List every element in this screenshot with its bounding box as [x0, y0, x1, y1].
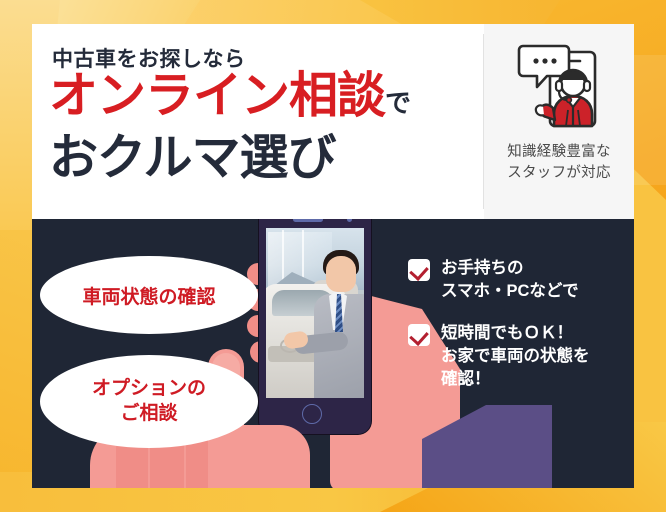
checkbox-checked-icon: [408, 324, 430, 346]
phone-home-button: [302, 404, 322, 424]
screen-salesperson-face: [326, 256, 356, 292]
headline-main-text: オンライン相談: [49, 69, 385, 123]
checklist-item: お手持ちの スマホ・PCなどで: [408, 257, 623, 303]
callout-bubble-label: 車両状態の確認: [82, 282, 215, 309]
callout-label-line-2: ご相談: [92, 402, 206, 427]
operator-headset-icon: [513, 36, 605, 136]
checklist-item: 短時間でもＯＫ！ お家で車両の状態を 確認！: [408, 322, 623, 391]
phone-camera: [347, 219, 352, 222]
headline-text-area: 中古車をお探しなら オンライン相談で おクルマ選び: [32, 24, 483, 219]
callout-bubble-vehicle-condition: 車両状態の確認: [40, 256, 258, 334]
checklist-line-1: お手持ちの: [441, 257, 579, 280]
headline-panel: 中古車をお探しなら オンライン相談で おクルマ選び: [32, 24, 634, 219]
headline-line-1: オンライン相談で: [49, 72, 411, 121]
phone-screen: [266, 228, 364, 398]
content-panel: 車両状態の確認 オプションの ご相談 お手持ちの スマホ・PCなどで 短時間でも…: [32, 219, 634, 488]
benefit-checklist: お手持ちの スマホ・PCなどで 短時間でもＯＫ！ お家で車両の状態を 確認！: [408, 257, 623, 410]
checklist-item-text: お手持ちの スマホ・PCなどで: [441, 257, 579, 303]
headline-line-2: おクルマ選び: [49, 134, 336, 183]
support-badge: 知識経験豊富な スタッフが対応: [484, 24, 634, 219]
checklist-line-2: お家で車両の状態を: [441, 345, 590, 368]
support-badge-caption: 知識経験豊富な スタッフが対応: [484, 142, 634, 184]
checklist-line-1: 短時間でもＯＫ！: [441, 322, 590, 345]
checkbox-checked-icon: [408, 259, 430, 281]
callout-label-line-1: オプションの: [92, 377, 206, 402]
phone-speaker: [293, 219, 323, 222]
checklist-item-text: 短時間でもＯＫ！ お家で車両の状態を 確認！: [441, 322, 590, 391]
support-caption-line-2: スタッフが対応: [484, 163, 634, 184]
promo-banner: 中古車をお探しなら オンライン相談で おクルマ選び: [0, 0, 666, 512]
callout-bubble-options: オプションの ご相談: [40, 355, 258, 448]
smartphone-mockup: [259, 219, 371, 434]
checklist-line-3: 確認！: [441, 368, 590, 391]
callout-bubble-label: オプションの ご相談: [92, 377, 206, 426]
headline-suffix-text: で: [385, 88, 411, 118]
checklist-line-2: スマホ・PCなどで: [441, 280, 579, 303]
support-caption-line-1: 知識経験豊富な: [484, 142, 634, 163]
